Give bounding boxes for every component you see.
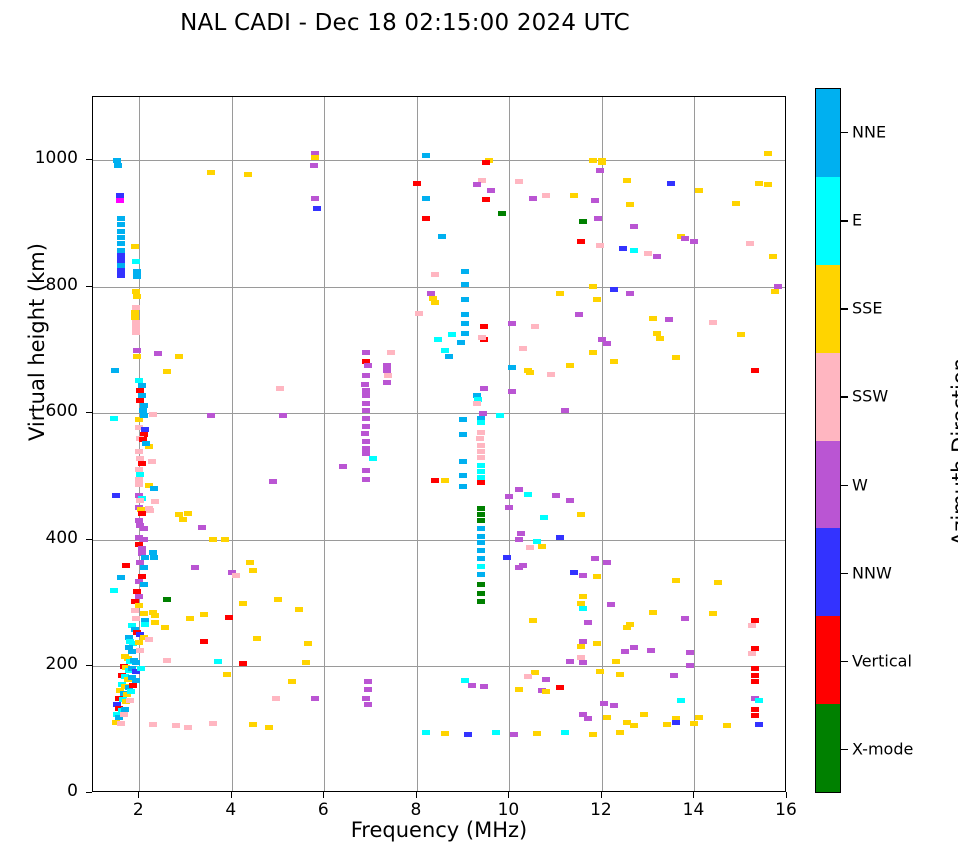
- data-point: [232, 573, 240, 578]
- data-point: [117, 575, 125, 580]
- data-point: [764, 182, 772, 187]
- data-point: [649, 316, 657, 321]
- data-point: [515, 687, 523, 692]
- y-gridline: [93, 666, 785, 667]
- data-point: [151, 620, 159, 625]
- data-point: [214, 659, 222, 664]
- data-point: [361, 431, 369, 436]
- y-tick-label: 1000: [18, 148, 78, 168]
- data-point: [589, 350, 597, 355]
- data-point: [579, 219, 587, 224]
- data-point: [459, 473, 467, 478]
- y-tick: [86, 286, 92, 287]
- data-point: [140, 413, 148, 418]
- data-point: [133, 354, 141, 359]
- data-point: [111, 368, 119, 373]
- data-point: [207, 170, 215, 175]
- x-gridline: [139, 97, 140, 791]
- data-point: [239, 601, 247, 606]
- data-point: [198, 525, 206, 530]
- data-point: [161, 625, 169, 630]
- data-point: [438, 234, 446, 239]
- data-point: [313, 206, 321, 211]
- data-point: [542, 193, 550, 198]
- y-tick: [86, 792, 92, 793]
- data-point: [771, 289, 779, 294]
- data-point: [505, 505, 513, 510]
- data-point: [672, 578, 680, 583]
- data-point: [477, 518, 485, 523]
- data-point: [110, 416, 118, 421]
- data-point: [473, 182, 481, 187]
- data-point: [709, 320, 717, 325]
- data-point: [137, 666, 145, 671]
- y-gridline: [93, 287, 785, 288]
- data-point: [690, 239, 698, 244]
- data-point: [626, 291, 634, 296]
- data-point: [142, 441, 150, 446]
- data-point: [556, 291, 564, 296]
- data-point: [422, 216, 430, 221]
- data-point: [422, 153, 430, 158]
- data-point: [461, 331, 469, 336]
- x-tick-label: 16: [756, 800, 816, 820]
- data-point: [441, 478, 449, 483]
- data-point: [239, 661, 247, 666]
- data-point: [630, 224, 638, 229]
- y-tick-label: 200: [18, 654, 78, 674]
- data-point: [132, 660, 140, 665]
- colorbar-label-e: E: [852, 211, 862, 230]
- data-point: [362, 416, 370, 421]
- y-gridline: [93, 413, 785, 414]
- data-point: [751, 707, 759, 712]
- data-point: [579, 660, 587, 665]
- data-point: [508, 389, 516, 394]
- x-gridline: [694, 97, 695, 791]
- data-point: [755, 698, 763, 703]
- data-point: [647, 648, 655, 653]
- data-point: [686, 650, 694, 655]
- y-tick: [86, 159, 92, 160]
- data-point: [362, 373, 370, 378]
- data-point: [653, 254, 661, 259]
- data-point: [116, 198, 124, 203]
- data-point: [524, 492, 532, 497]
- x-tick-label: 10: [478, 800, 538, 820]
- data-point: [681, 616, 689, 621]
- data-point: [748, 651, 756, 656]
- data-point: [515, 487, 523, 492]
- colorbar[interactable]: [815, 88, 841, 793]
- data-point: [748, 623, 756, 628]
- data-point: [515, 179, 523, 184]
- data-point: [492, 730, 500, 735]
- data-point: [473, 401, 481, 406]
- data-point: [383, 380, 391, 385]
- data-point: [244, 172, 252, 177]
- data-point: [515, 537, 523, 542]
- y-tick-label: 400: [18, 528, 78, 548]
- y-tick: [86, 412, 92, 413]
- data-point: [616, 730, 624, 735]
- data-point: [591, 198, 599, 203]
- data-point: [413, 181, 421, 186]
- data-point: [644, 251, 652, 256]
- data-point: [714, 580, 722, 585]
- data-point: [221, 537, 229, 542]
- data-point: [459, 459, 467, 464]
- data-point: [461, 312, 469, 317]
- data-point: [695, 715, 703, 720]
- data-point: [607, 602, 615, 607]
- colorbar-tick: [841, 661, 848, 662]
- colorbar-segment-ssw[interactable]: [816, 353, 840, 441]
- x-gridline: [509, 97, 510, 791]
- data-point: [288, 679, 296, 684]
- colorbar-segment-nnw[interactable]: [816, 528, 840, 616]
- data-point: [138, 511, 146, 516]
- y-tick: [86, 539, 92, 540]
- data-point: [709, 611, 717, 616]
- data-point: [279, 413, 287, 418]
- data-point: [751, 679, 759, 684]
- data-point: [476, 436, 484, 441]
- data-point: [570, 570, 578, 575]
- data-point: [361, 382, 369, 387]
- data-point: [482, 197, 490, 202]
- plot-area: [92, 96, 786, 792]
- colorbar-segment-sse[interactable]: [816, 265, 840, 353]
- data-point: [477, 480, 485, 485]
- data-point: [584, 620, 592, 625]
- data-point: [603, 560, 611, 565]
- data-point: [477, 526, 485, 531]
- data-point: [596, 669, 604, 674]
- page-title: NAL CADI - Dec 18 02:15:00 2024 UTC: [0, 10, 810, 36]
- data-point: [594, 216, 602, 221]
- data-point: [175, 354, 183, 359]
- data-point: [480, 684, 488, 689]
- data-point: [457, 340, 465, 345]
- data-point: [253, 636, 261, 641]
- data-point: [311, 196, 319, 201]
- x-tick-label: 8: [386, 800, 446, 820]
- data-point: [477, 591, 485, 596]
- data-point: [459, 484, 467, 489]
- data-point: [596, 168, 604, 173]
- data-point: [769, 254, 777, 259]
- data-point: [461, 321, 469, 326]
- data-point: [575, 312, 583, 317]
- data-point: [579, 573, 587, 578]
- data-point: [480, 324, 488, 329]
- data-point: [146, 508, 154, 513]
- data-point: [677, 698, 685, 703]
- data-point: [269, 479, 277, 484]
- data-point: [593, 641, 601, 646]
- data-point: [163, 597, 171, 602]
- data-point: [480, 386, 488, 391]
- y-tick: [86, 665, 92, 666]
- data-point: [135, 482, 143, 487]
- data-point: [131, 244, 139, 249]
- data-point: [133, 294, 141, 299]
- data-point: [533, 731, 541, 736]
- data-point: [431, 300, 439, 305]
- data-point: [387, 350, 395, 355]
- data-point: [610, 287, 618, 292]
- data-point: [362, 439, 370, 444]
- colorbar-tick: [841, 749, 848, 750]
- data-point: [640, 712, 648, 717]
- data-point: [626, 202, 634, 207]
- data-point: [150, 486, 158, 491]
- data-point: [526, 545, 534, 550]
- data-point: [163, 369, 171, 374]
- data-point: [117, 222, 125, 227]
- data-point: [746, 241, 754, 246]
- data-point: [302, 660, 310, 665]
- data-point: [140, 565, 148, 570]
- data-point: [589, 158, 597, 163]
- y-axis-label: Virtual height (km): [25, 212, 49, 472]
- data-point: [596, 243, 604, 248]
- data-point: [431, 272, 439, 277]
- data-point: [477, 443, 485, 448]
- data-point: [117, 273, 125, 278]
- data-point: [150, 555, 158, 560]
- data-point: [619, 246, 627, 251]
- data-point: [670, 673, 678, 678]
- data-point: [311, 696, 319, 701]
- data-point: [531, 670, 539, 675]
- x-gridline: [417, 97, 418, 791]
- data-point: [477, 548, 485, 553]
- data-point: [566, 659, 574, 664]
- colorbar-segment-e[interactable]: [816, 177, 840, 265]
- data-point: [441, 348, 449, 353]
- data-point: [589, 732, 597, 737]
- data-point: [362, 408, 370, 413]
- data-point: [135, 640, 143, 645]
- colorbar-segment-x-mode[interactable]: [816, 704, 840, 792]
- x-tick: [138, 792, 139, 798]
- data-point: [737, 332, 745, 337]
- data-point: [304, 641, 312, 646]
- data-point: [610, 703, 618, 708]
- data-point: [515, 565, 523, 570]
- data-point: [630, 645, 638, 650]
- data-point: [461, 297, 469, 302]
- data-point: [364, 687, 372, 692]
- data-point: [517, 531, 525, 536]
- data-point: [538, 544, 546, 549]
- data-point: [464, 732, 472, 737]
- data-point: [112, 493, 120, 498]
- data-point: [656, 336, 664, 341]
- colorbar-tick: [841, 573, 848, 574]
- data-point: [477, 540, 485, 545]
- data-point: [448, 332, 456, 337]
- data-point: [133, 348, 141, 353]
- data-point: [503, 555, 511, 560]
- data-point: [751, 713, 759, 718]
- x-gridline: [602, 97, 603, 791]
- data-point: [149, 722, 157, 727]
- data-point: [751, 368, 759, 373]
- data-point: [140, 526, 148, 531]
- data-point: [468, 683, 476, 688]
- data-point: [364, 363, 372, 368]
- data-point: [186, 616, 194, 621]
- data-point: [690, 721, 698, 726]
- data-point: [649, 610, 657, 615]
- data-point: [140, 611, 148, 616]
- data-point: [498, 211, 506, 216]
- data-point: [179, 517, 187, 522]
- data-point: [126, 698, 134, 703]
- data-point: [579, 606, 587, 611]
- data-point: [477, 463, 485, 468]
- x-tick: [508, 792, 509, 798]
- data-point: [630, 723, 638, 728]
- colorbar-label-sse: SSE: [852, 299, 882, 318]
- data-point: [508, 321, 516, 326]
- data-point: [531, 324, 539, 329]
- y-gridline: [93, 160, 785, 161]
- data-point: [482, 160, 490, 165]
- data-point: [172, 723, 180, 728]
- data-point: [117, 216, 125, 221]
- data-point: [751, 666, 759, 671]
- data-point: [136, 498, 144, 503]
- data-point: [459, 417, 467, 422]
- colorbar-label-nnw: NNW: [852, 563, 892, 582]
- data-point: [154, 351, 162, 356]
- data-point: [114, 163, 122, 168]
- data-point: [117, 241, 125, 246]
- data-point: [561, 730, 569, 735]
- x-tick: [601, 792, 602, 798]
- data-point: [686, 663, 694, 668]
- y-tick-label: 0: [18, 781, 78, 801]
- data-point: [422, 196, 430, 201]
- data-point: [477, 599, 485, 604]
- data-point: [487, 188, 495, 193]
- data-point: [665, 317, 673, 322]
- data-point: [579, 594, 587, 599]
- colorbar-segment-w[interactable]: [816, 441, 840, 529]
- data-point: [246, 560, 254, 565]
- data-point: [128, 649, 136, 654]
- data-point: [542, 677, 550, 682]
- data-point: [598, 160, 606, 165]
- data-point: [477, 582, 485, 587]
- data-point: [477, 512, 485, 517]
- data-point: [552, 493, 560, 498]
- data-point: [223, 672, 231, 677]
- data-point: [415, 311, 423, 316]
- x-tick-label: 2: [108, 800, 168, 820]
- y-tick-label: 600: [18, 401, 78, 421]
- data-point: [755, 181, 763, 186]
- data-point: [603, 341, 611, 346]
- x-gridline: [232, 97, 233, 791]
- data-point: [191, 565, 199, 570]
- colorbar-tick: [841, 132, 848, 133]
- data-point: [477, 469, 485, 474]
- data-point: [136, 648, 144, 653]
- x-tick-label: 6: [293, 800, 353, 820]
- data-point: [630, 248, 638, 253]
- data-point: [623, 625, 631, 630]
- data-point: [311, 155, 319, 160]
- data-point: [612, 659, 620, 664]
- data-point: [566, 498, 574, 503]
- data-point: [477, 455, 485, 460]
- x-tick-label: 14: [663, 800, 723, 820]
- data-point: [663, 722, 671, 727]
- data-point: [667, 181, 675, 186]
- data-point: [584, 716, 592, 721]
- data-point: [117, 235, 125, 240]
- y-tick-label: 800: [18, 275, 78, 295]
- colorbar-title: Azimuth Direction: [948, 287, 958, 617]
- data-point: [764, 151, 772, 156]
- data-point: [603, 715, 611, 720]
- data-point: [272, 696, 280, 701]
- data-point: [540, 515, 548, 520]
- data-point: [127, 689, 135, 694]
- colorbar-label-ssw: SSW: [852, 387, 888, 406]
- data-point: [362, 401, 370, 406]
- data-point: [362, 468, 370, 473]
- data-point: [610, 359, 618, 364]
- data-point: [505, 494, 513, 499]
- data-point: [508, 365, 516, 370]
- data-point: [132, 616, 140, 621]
- colorbar-segment-vertical[interactable]: [816, 616, 840, 704]
- data-point: [681, 236, 689, 241]
- data-point: [369, 456, 377, 461]
- data-point: [133, 274, 141, 279]
- colorbar-segment-nne[interactable]: [816, 89, 840, 177]
- data-point: [249, 722, 257, 727]
- data-point: [459, 432, 467, 437]
- data-point: [120, 712, 128, 717]
- data-point: [621, 649, 629, 654]
- data-point: [478, 335, 486, 340]
- data-point: [132, 259, 140, 264]
- data-point: [209, 721, 217, 726]
- colorbar-tick: [841, 485, 848, 486]
- data-point: [163, 658, 171, 663]
- data-point: [591, 556, 599, 561]
- colorbar-tick: [841, 308, 848, 309]
- data-point: [616, 672, 624, 677]
- data-point: [265, 725, 273, 730]
- x-tick: [231, 792, 232, 798]
- x-tick: [323, 792, 324, 798]
- data-point: [723, 723, 731, 728]
- data-point: [577, 239, 585, 244]
- data-point: [129, 683, 137, 688]
- data-point: [431, 478, 439, 483]
- data-point: [519, 346, 527, 351]
- data-point: [477, 572, 485, 577]
- data-point: [577, 644, 585, 649]
